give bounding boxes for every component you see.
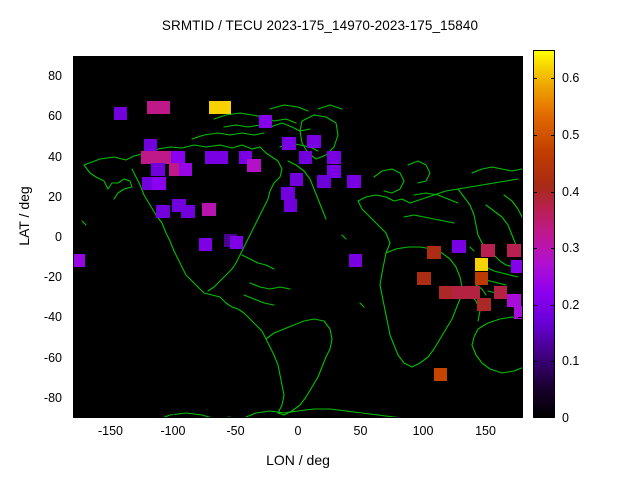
data-cell (179, 163, 193, 176)
y-tick-mark-right (518, 358, 523, 359)
data-cell (494, 286, 508, 299)
colorbar-tick-mark-left (533, 192, 537, 193)
page-title: SRMTID / TECU 2023-175_14970-2023-175_15… (0, 18, 640, 33)
x-tick-mark (298, 413, 299, 418)
colorbar-tick-mark-right (551, 248, 555, 249)
x-tick-mark (486, 413, 487, 418)
data-cell (452, 286, 466, 299)
data-cell (481, 244, 495, 257)
data-cell (511, 260, 523, 273)
data-cell (477, 298, 491, 311)
data-cells-layer (74, 57, 523, 418)
x-tick-label: 100 (413, 424, 434, 438)
x-tick-label: 150 (475, 424, 496, 438)
data-cell (215, 151, 229, 164)
figure-canvas: SRMTID / TECU 2023-175_14970-2023-175_15… (0, 0, 640, 480)
y-tick-mark (73, 76, 78, 77)
data-cell (156, 205, 170, 218)
y-tick-mark (73, 157, 78, 158)
y-tick-mark (73, 197, 78, 198)
y-tick-label: 80 (0, 69, 62, 83)
colorbar-tick-mark-right (551, 192, 555, 193)
x-axis-label: LON / deg (73, 452, 523, 468)
colorbar-tick-label: 0.1 (562, 354, 579, 368)
colorbar-tick-label: 0.6 (562, 71, 579, 85)
x-tick-mark-top (298, 56, 299, 61)
colorbar-tick-label: 0.5 (562, 128, 579, 142)
data-cell (307, 135, 321, 148)
colorbar-tick-mark-right (551, 305, 555, 306)
x-tick-mark-top (423, 56, 424, 61)
data-cell (199, 238, 213, 251)
map-plot-area[interactable] (73, 56, 523, 418)
data-cell (327, 151, 341, 164)
colorbar-tick-mark-left (533, 135, 537, 136)
x-tick-label: -50 (226, 424, 244, 438)
x-tick-mark (173, 413, 174, 418)
data-cell (507, 244, 521, 257)
y-tick-mark (73, 116, 78, 117)
x-tick-mark (111, 413, 112, 418)
data-cell (452, 240, 466, 253)
y-tick-mark-right (518, 398, 523, 399)
x-tick-label: 50 (354, 424, 368, 438)
x-tick-label: 0 (295, 424, 302, 438)
colorbar-tick-label: 0.2 (562, 298, 579, 312)
x-tick-mark (361, 413, 362, 418)
y-tick-mark (73, 358, 78, 359)
y-tick-mark-right (518, 197, 523, 198)
data-cell (217, 101, 231, 114)
data-cell (475, 272, 489, 285)
data-cell (434, 368, 448, 381)
colorbar-tick-mark-left (533, 361, 537, 362)
data-cell (475, 258, 489, 271)
x-tick-mark-top (486, 56, 487, 61)
colorbar[interactable] (533, 50, 555, 418)
colorbar-tick-mark-right (551, 361, 555, 362)
y-tick-label: 60 (0, 109, 62, 123)
data-cell (284, 199, 298, 212)
colorbar-tick-mark-right (551, 78, 555, 79)
x-tick-mark (423, 413, 424, 418)
data-cell (230, 236, 244, 249)
x-tick-mark-top (236, 56, 237, 61)
x-tick-mark-top (361, 56, 362, 61)
data-cell (114, 107, 128, 120)
data-cell (347, 175, 361, 188)
colorbar-tick-mark-left (533, 78, 537, 79)
data-cell (417, 272, 431, 285)
y-tick-mark-right (518, 237, 523, 238)
y-tick-mark-right (518, 76, 523, 77)
y-tick-mark-right (518, 157, 523, 158)
colorbar-tick-label: 0 (562, 411, 569, 425)
y-axis-label: LAT / deg (16, 146, 32, 286)
y-tick-label: -80 (0, 391, 62, 405)
x-tick-mark (236, 413, 237, 418)
x-tick-mark-top (173, 56, 174, 61)
y-tick-mark (73, 237, 78, 238)
y-tick-mark-right (518, 116, 523, 117)
y-tick-label: -40 (0, 310, 62, 324)
data-cell (247, 159, 261, 172)
colorbar-tick-mark-left (533, 248, 537, 249)
x-tick-label: -150 (98, 424, 123, 438)
data-cell (349, 254, 363, 267)
data-cell (181, 205, 195, 218)
colorbar-tick-label: 0.4 (562, 185, 579, 199)
data-cell (427, 246, 441, 259)
colorbar-tick-mark-left (533, 305, 537, 306)
y-tick-label: -60 (0, 351, 62, 365)
data-cell (299, 151, 313, 164)
data-cell (259, 115, 273, 128)
data-cell (282, 137, 296, 150)
data-cell (151, 163, 165, 176)
y-tick-mark-right (518, 317, 523, 318)
data-cell (317, 175, 331, 188)
data-cell (152, 177, 166, 190)
data-cell (202, 203, 216, 216)
data-cell (73, 254, 85, 267)
colorbar-tick-label: 0.3 (562, 241, 579, 255)
colorbar-tick-mark-right (551, 135, 555, 136)
y-tick-mark-right (518, 277, 523, 278)
data-cell (156, 101, 170, 114)
y-tick-mark (73, 277, 78, 278)
y-tick-mark (73, 398, 78, 399)
x-tick-mark-top (111, 56, 112, 61)
data-cell (290, 173, 304, 186)
x-tick-label: -100 (160, 424, 185, 438)
y-tick-mark (73, 317, 78, 318)
data-cell (439, 286, 453, 299)
